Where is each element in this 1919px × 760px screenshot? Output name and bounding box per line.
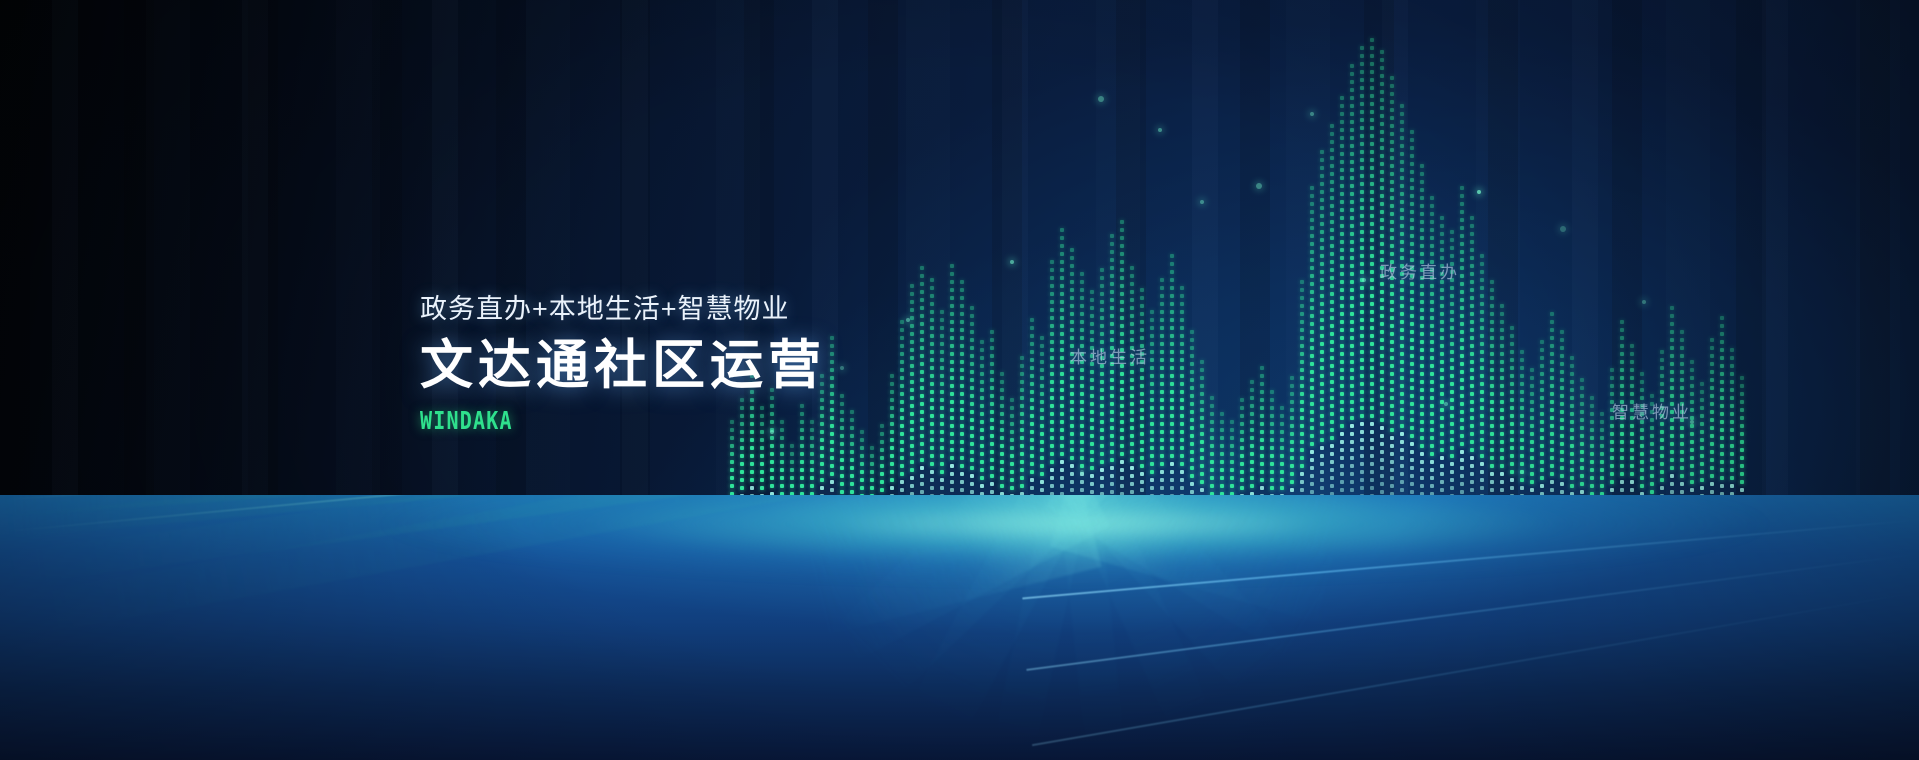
skyline-bar (1378, 50, 1385, 516)
glow-particle (906, 318, 910, 322)
headline-block: 政务直办+本地生活+智慧物业 文达通社区运营 WINDAKA (420, 296, 826, 433)
skyline-bar (1028, 318, 1035, 516)
skyline-bar (1198, 360, 1205, 516)
skyline-bar (1388, 76, 1395, 516)
skyline-bar (1568, 356, 1575, 516)
skyline-bar (828, 336, 835, 516)
glow-particle (1310, 112, 1314, 116)
glow-particle (1520, 470, 1524, 474)
skyline-bar (1728, 348, 1735, 516)
skyline-bar (1408, 130, 1415, 516)
skyline-bar (1168, 254, 1175, 516)
skyline-bar (1478, 254, 1485, 516)
skyline-bar (1148, 310, 1155, 516)
skyline-bar (958, 280, 965, 516)
glow-particle (1080, 470, 1084, 474)
glow-particle (1444, 402, 1448, 406)
skyline-bar (1258, 366, 1265, 516)
glow-particle (1098, 96, 1104, 102)
skyline-bar (1508, 326, 1515, 516)
page-title: 文达通社区运营 (420, 339, 826, 392)
skyline-bar (1468, 216, 1475, 516)
skyline-bar (1298, 280, 1305, 516)
skyline-bar (1528, 368, 1535, 516)
skyline-bar (1048, 260, 1055, 516)
skyline-bar (1368, 38, 1375, 516)
skyline-bar (1718, 316, 1725, 516)
skyline-bar (1428, 196, 1435, 516)
skyline-bar (1418, 164, 1425, 516)
skyline-bar (1608, 368, 1615, 516)
skyline-bar (988, 330, 995, 516)
skyline-bar (1348, 64, 1355, 516)
skyline-label-1: 政务直办 (1380, 258, 1460, 283)
skyline-bar (1538, 340, 1545, 516)
skyline-bar (1708, 338, 1715, 516)
skyline-bar (1328, 124, 1335, 516)
skyline-bar (918, 266, 925, 516)
perspective-ground (0, 495, 1919, 760)
glow-particle (840, 366, 844, 370)
skyline-bar (1058, 228, 1065, 516)
skyline-bar (1548, 312, 1555, 516)
skyline-bar (978, 340, 985, 516)
glow-particle (1560, 226, 1566, 232)
glow-particle (1477, 190, 1481, 194)
glow-particle (1256, 183, 1262, 189)
skyline-bar (938, 310, 945, 516)
skyline-bar (1018, 356, 1025, 516)
brand-wordmark: WINDAKA (420, 408, 745, 433)
skyline-bar (948, 264, 955, 516)
skyline-bar (1318, 150, 1325, 516)
glow-particle (1642, 300, 1646, 304)
skyline-bar (1308, 186, 1315, 516)
skyline-bar (1118, 220, 1125, 516)
skyline-bar (1128, 266, 1135, 516)
banner-root: 政务直办本地生活智慧物业 政务直办+本地生活+智慧物业 文达通社区运营 WIND… (0, 0, 1919, 760)
skyline-bar (1088, 290, 1095, 516)
glow-particle (1200, 200, 1204, 204)
skyline-label-2: 本地生活 (1070, 343, 1150, 368)
skyline-bar (1338, 96, 1345, 516)
skyline-bar (1498, 304, 1505, 516)
skyline-bar (1098, 268, 1105, 516)
skyline-bar (1398, 104, 1405, 516)
skyline-bar (1458, 186, 1465, 516)
skyline-bar (1488, 280, 1495, 516)
glow-particle (1010, 260, 1014, 264)
skyline-bar (1688, 360, 1695, 516)
skyline-bar (898, 320, 905, 516)
skyline-bar (1108, 234, 1115, 516)
skyline-bar (1188, 330, 1195, 516)
skyline-bar (1558, 330, 1565, 516)
glow-particle (1158, 128, 1162, 132)
skyline-bar (1068, 248, 1075, 516)
kicker-text: 政务直办+本地生活+智慧物业 (420, 296, 826, 323)
skyline-label-3: 智慧物业 (1612, 398, 1692, 423)
skyline-bar (1158, 278, 1165, 516)
skyline-bar (1138, 288, 1145, 516)
glow-particle (1362, 278, 1366, 282)
skyline-bar (1038, 336, 1045, 516)
skyline-bar (1078, 272, 1085, 516)
skyline-bar (1628, 344, 1635, 516)
skyline-bar (1678, 330, 1685, 516)
skyline-bar (1518, 350, 1525, 516)
skyline-bar (928, 278, 935, 516)
skyline-bar (1178, 286, 1185, 516)
skyline-bar (968, 306, 975, 516)
skyline-bar (1658, 350, 1665, 516)
